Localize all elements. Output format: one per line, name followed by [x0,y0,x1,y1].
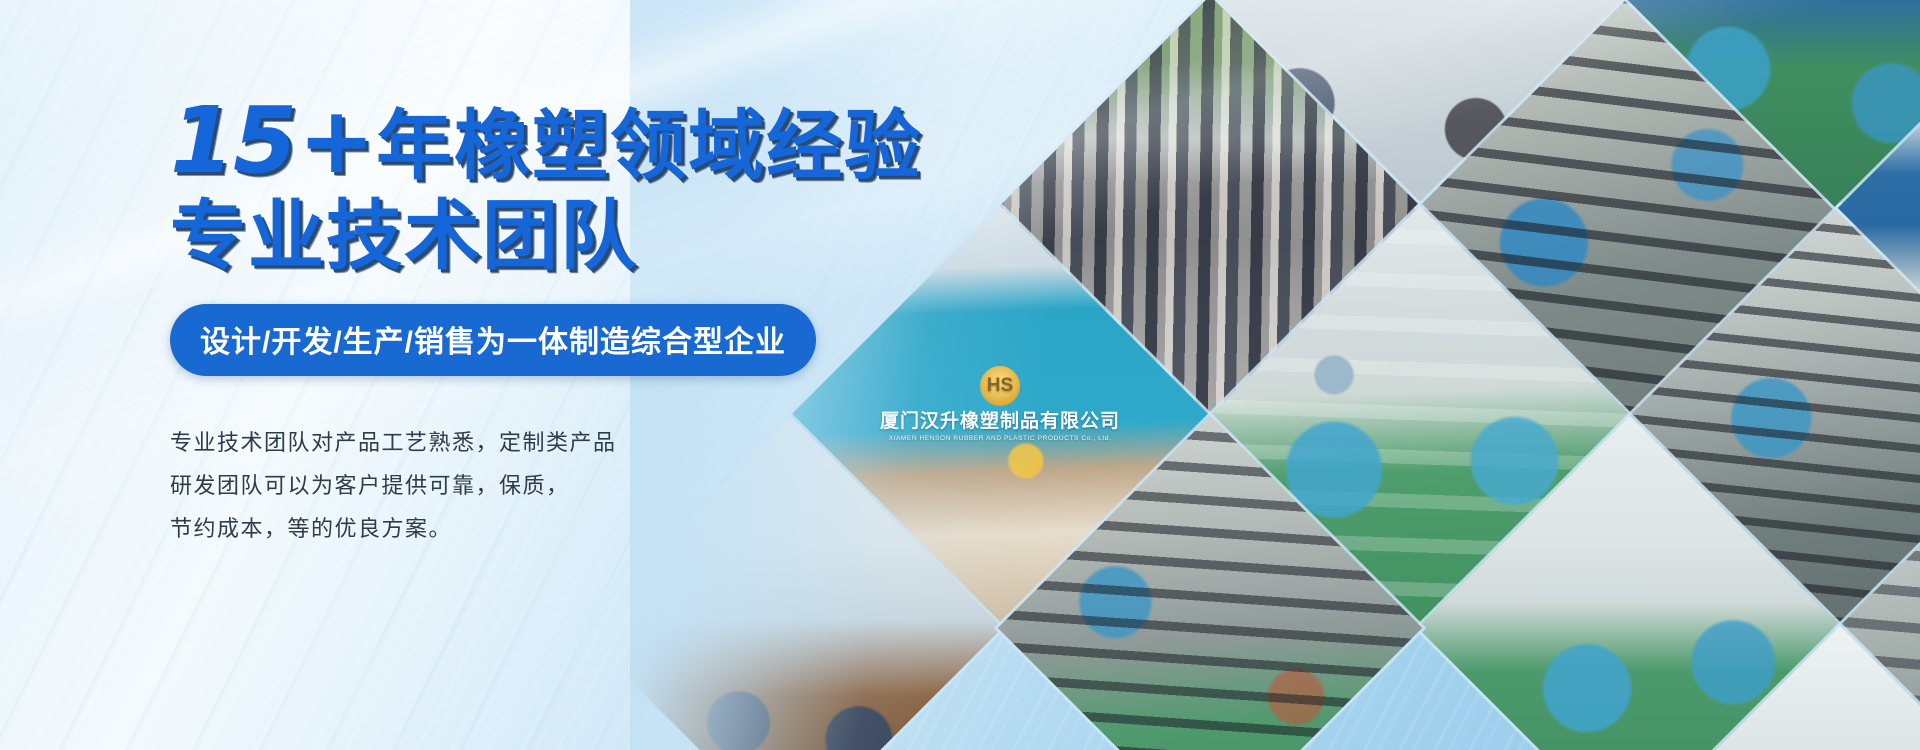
company-logo-icon: HS [980,366,1020,406]
description-line-2: 研发团队可以为客户提供可靠，保质， [170,465,930,508]
headline-line-2: 专业技术团队 [170,196,930,277]
description-line-1: 专业技术团队对产品工艺熟悉，定制类产品 [170,422,930,465]
promo-banner: HS 厦门汉升橡塑制品有限公司 XIAMEN HENSON RUBBER AND… [0,0,1920,750]
headline-plus-sign: + [298,87,374,194]
slogan-pill-badge: 设计/开发/生产/销售为一体制造综合型企业 [170,304,816,376]
headline-years-number: 15 [170,87,296,194]
description-paragraph: 专业技术团队对产品工艺熟悉，定制类产品 研发团队可以为客户提供可靠，保质， 节约… [170,422,930,551]
description-line-3: 节约成本，等的优良方案。 [170,508,930,551]
banner-copy: 15+年橡塑领域经验 专业技术团队 设计/开发/生产/销售为一体制造综合型企业 … [170,92,930,551]
headline-line-1-text: 年橡塑领域经验 [376,101,922,190]
headline-line-1: 15+年橡塑领域经验 [170,92,930,190]
